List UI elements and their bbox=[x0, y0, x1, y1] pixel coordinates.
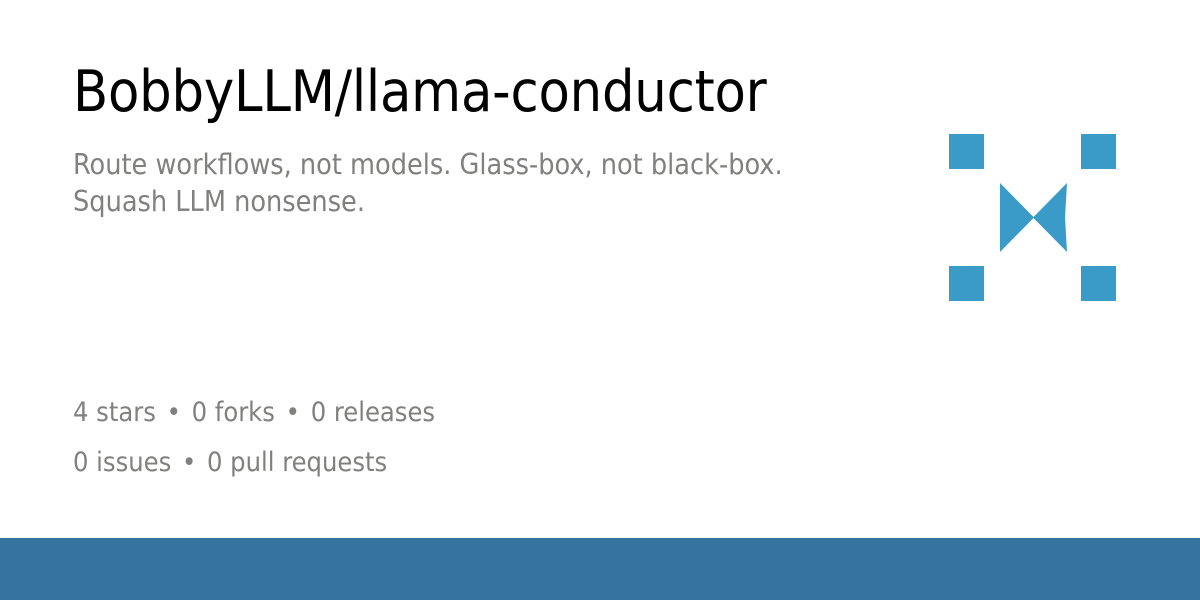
star-point-bottom-left bbox=[1000, 217, 1034, 252]
stat-issues: 0 issues bbox=[73, 447, 171, 478]
social-preview-card: BobbyLLM/llama-conductor Route workflows… bbox=[0, 0, 1200, 600]
stat-pull-requests: 0 pull requests bbox=[207, 447, 387, 478]
text-column: BobbyLLM/llama-conductor Route workflows… bbox=[73, 60, 863, 220]
logo-four-point-star bbox=[1000, 183, 1067, 252]
corner-square-bottom-left bbox=[949, 266, 984, 301]
stat-separator: • bbox=[179, 447, 199, 478]
star-point-top-right bbox=[1033, 183, 1067, 218]
corner-square-bottom-right bbox=[1081, 266, 1116, 301]
stats-line-secondary: 0 issues • 0 pull requests bbox=[73, 438, 435, 488]
stat-separator: • bbox=[283, 397, 303, 428]
stat-stars: 4 stars bbox=[73, 397, 156, 428]
star-point-top-left bbox=[1000, 183, 1034, 218]
stat-forks: 0 forks bbox=[192, 397, 275, 428]
stats-line-primary: 4 stars • 0 forks • 0 releases bbox=[73, 388, 435, 438]
page-title: BobbyLLM/llama-conductor bbox=[73, 60, 863, 124]
accent-band bbox=[0, 538, 1200, 600]
repo-stats: 4 stars • 0 forks • 0 releases 0 issues … bbox=[73, 388, 435, 488]
repo-description: Route workflows, not models. Glass-box, … bbox=[73, 146, 813, 220]
stat-separator: • bbox=[164, 397, 184, 428]
star-point-bottom-right bbox=[1033, 217, 1067, 252]
llama-conductor-logo-icon bbox=[949, 134, 1116, 301]
stat-releases: 0 releases bbox=[311, 397, 435, 428]
corner-square-top-right bbox=[1081, 134, 1116, 169]
corner-square-top-left bbox=[949, 134, 984, 169]
